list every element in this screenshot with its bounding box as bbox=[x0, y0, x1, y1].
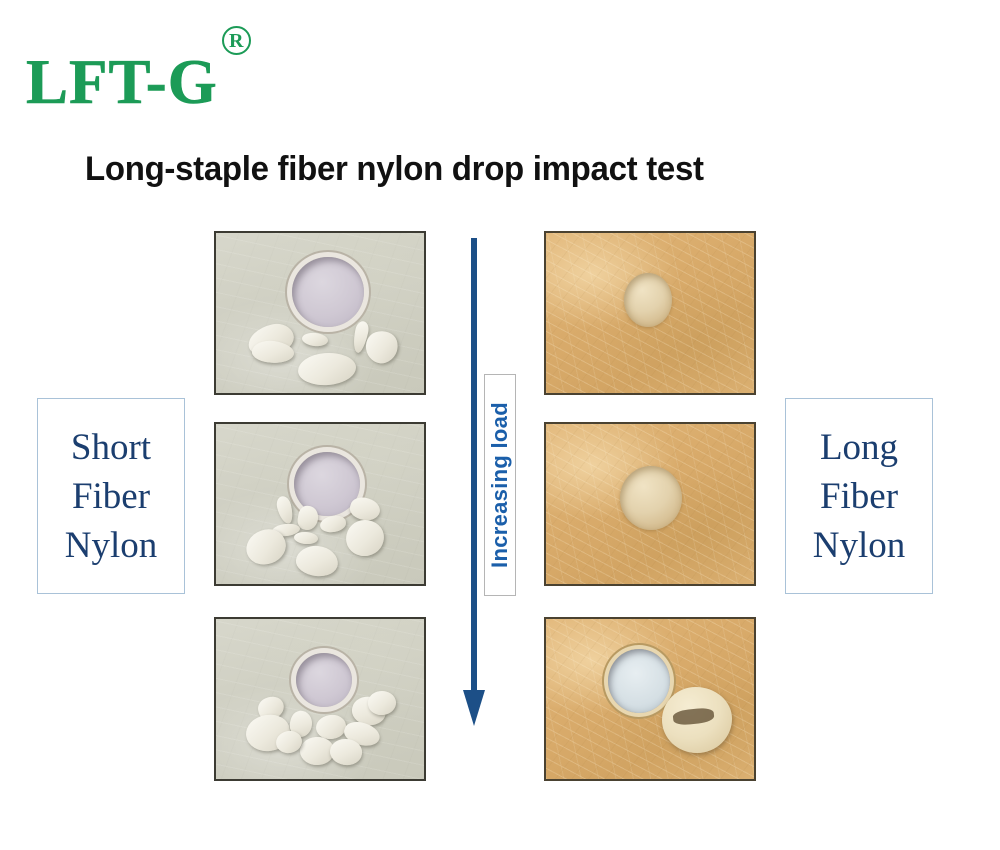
registered-trademark-icon: R bbox=[222, 26, 251, 55]
fragment bbox=[301, 332, 328, 348]
sample-photo-long-fiber-medium-load bbox=[544, 422, 756, 586]
fragment bbox=[275, 495, 295, 526]
label-long-line-3: Nylon bbox=[813, 521, 906, 570]
punched-hole bbox=[608, 649, 670, 713]
sample-photo-long-fiber-high-load bbox=[544, 617, 756, 781]
fragment bbox=[319, 514, 347, 533]
page-title: Long-staple fiber nylon drop impact test bbox=[85, 148, 704, 190]
label-long-line-1: Long bbox=[820, 423, 898, 472]
sample-photo-short-fiber-medium-load bbox=[214, 422, 426, 586]
impact-dent bbox=[620, 466, 682, 530]
fragment bbox=[343, 517, 387, 559]
brand-logo: LFT-G R bbox=[26, 50, 251, 114]
label-long-fiber-nylon: Long Fiber Nylon bbox=[785, 398, 933, 594]
increasing-load-arrow-icon bbox=[463, 238, 485, 726]
brand-name: LFT-G bbox=[26, 50, 218, 114]
sample-photo-short-fiber-high-load bbox=[214, 617, 426, 781]
fragment bbox=[294, 531, 319, 545]
punched-plug bbox=[662, 687, 732, 753]
arrow-shaft bbox=[471, 238, 477, 693]
fragment bbox=[295, 544, 340, 578]
impact-hole bbox=[292, 257, 364, 327]
increasing-load-caption-box: Increasing load bbox=[484, 374, 516, 596]
sample-photo-short-fiber-low-load bbox=[214, 231, 426, 395]
label-short-line-1: Short bbox=[71, 423, 151, 472]
arrow-head-down-icon bbox=[463, 690, 485, 726]
label-short-fiber-nylon: Short Fiber Nylon bbox=[37, 398, 185, 594]
sample-photo-long-fiber-low-load bbox=[544, 231, 756, 395]
impact-hole bbox=[296, 653, 352, 707]
fragment bbox=[297, 351, 357, 387]
label-short-line-2: Fiber bbox=[72, 472, 150, 521]
label-short-line-3: Nylon bbox=[65, 521, 158, 570]
impact-dent bbox=[624, 273, 672, 327]
increasing-load-label: Increasing load bbox=[487, 402, 513, 568]
label-long-line-2: Fiber bbox=[820, 472, 898, 521]
